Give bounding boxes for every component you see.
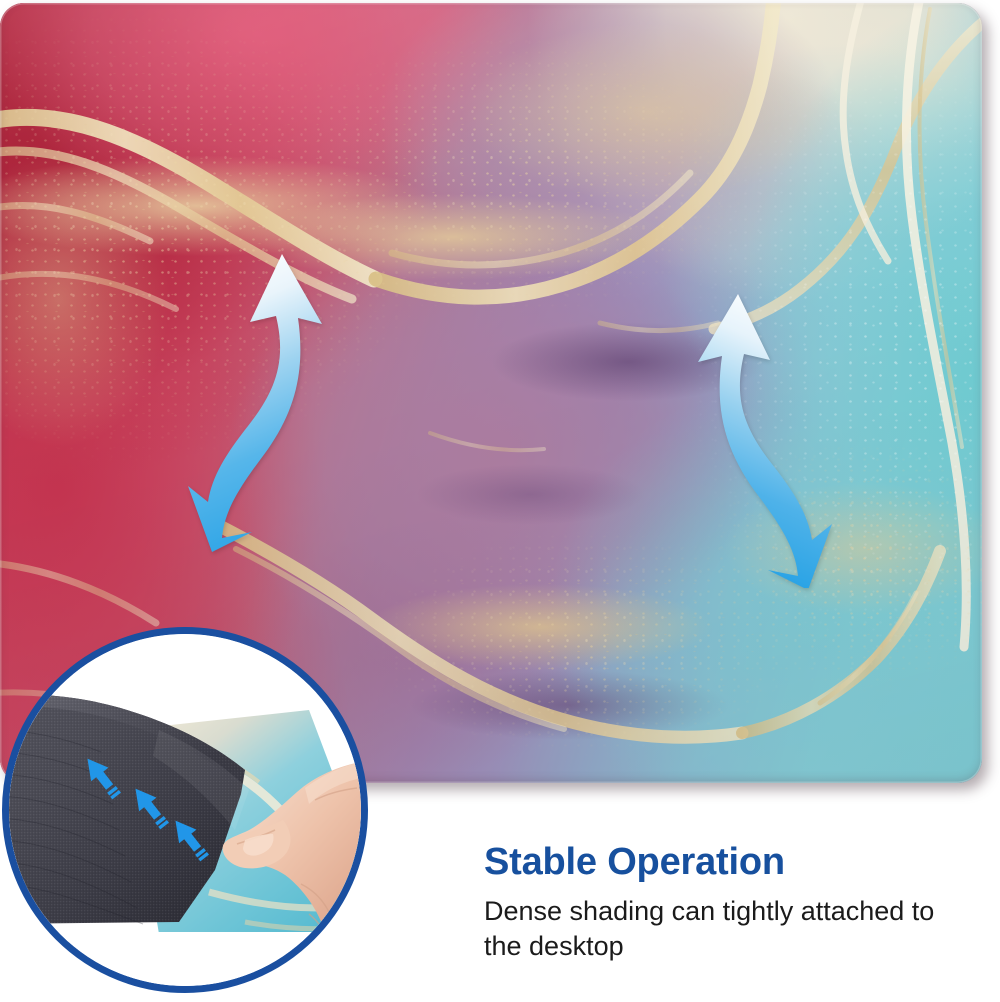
product-feature-image: Stable Operation Dense shading can tight… — [0, 0, 1000, 1002]
grip-direction-arrow-left — [186, 248, 346, 558]
inset-photo-rubber-backing — [9, 634, 361, 986]
detail-inset-circle — [2, 627, 368, 993]
caption-title: Stable Operation — [484, 843, 984, 882]
grip-direction-arrow-right — [676, 288, 836, 588]
caption-body: Dense shading can tightly attached to th… — [484, 894, 939, 965]
caption-block: Stable Operation Dense shading can tight… — [484, 843, 984, 965]
caption-body-line-1: Dense shading can tightly attached — [484, 896, 904, 926]
